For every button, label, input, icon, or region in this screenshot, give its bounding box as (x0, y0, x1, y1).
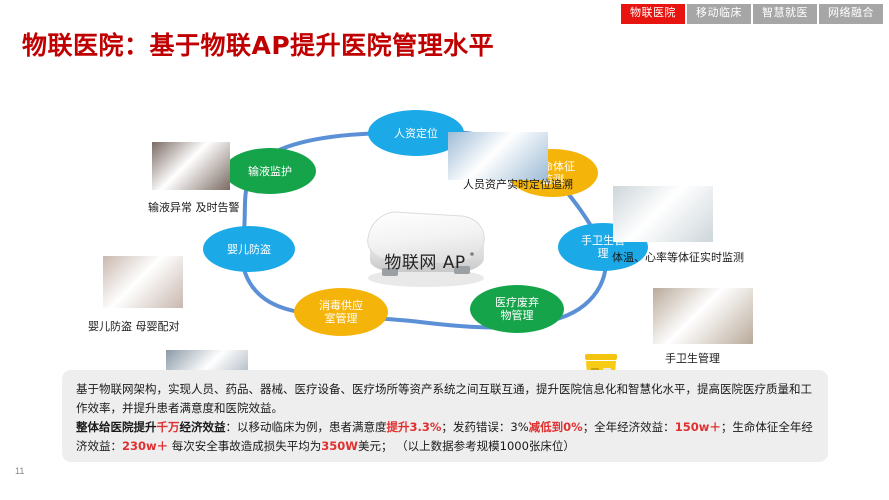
photo-image-infusion-alarm (152, 142, 230, 190)
note-fragment-0: 整体给医院提升 (76, 420, 157, 434)
iot-ap-label: 物联网 AP (340, 248, 510, 273)
photo-staff-asset-rtls (448, 132, 548, 180)
photo-hand-wash (653, 288, 753, 344)
page-title: 物联医院：基于物联AP提升医院管理水平 (22, 26, 494, 62)
photo-infusion-alarm (152, 142, 230, 190)
ring-node-infant-security[interactable]: 婴儿防盗 (203, 226, 295, 272)
note-fragment-6: 减低到0% (529, 420, 583, 434)
slide-root: 物联医院移动临床智慧就医网络融合 物联医院：基于物联AP提升医院管理水平 (0, 0, 889, 500)
photo-caption-hand-wash: 手卫生管理 (665, 350, 720, 366)
nav-tab-1[interactable]: 移动临床 (687, 4, 751, 24)
top-nav-tabs: 物联医院移动临床智慧就医网络融合 (621, 4, 883, 24)
photo-infant-matching (103, 256, 183, 308)
note-fragment-13: 美元； （以上数据参考规模1000张床位） (358, 439, 575, 453)
nav-tab-2[interactable]: 智慧就医 (753, 4, 817, 24)
nav-tab-3[interactable]: 网络融合 (819, 4, 883, 24)
photo-image-infant-matching (103, 256, 183, 308)
photo-caption-infusion-alarm: 输液异常 及时告警 (148, 199, 240, 215)
note-fragment-12: 350W (321, 439, 358, 453)
note-fragment-2: 经济效益 (180, 420, 226, 434)
photo-caption-staff-asset-rtls: 人员资产实时定位追溯 (463, 176, 573, 192)
iot-hospital-diagram: 物联网 AP 人资定位生命体征 监测手卫生管 理医疗废弃 物管理消毒供应 室管理… (0, 60, 889, 360)
summary-note-line1: 基于物联网架构，实现人员、药品、器械、医疗设备、医疗场所等资产系统之间互联互通，… (76, 380, 814, 418)
nav-tab-0[interactable]: 物联医院 (621, 4, 685, 24)
ring-node-medical-waste[interactable]: 医疗废弃 物管理 (470, 285, 564, 333)
photo-caption-infant-matching: 婴儿防盗 母婴配对 (88, 318, 180, 334)
note-fragment-1: 千万 (157, 420, 180, 434)
note-fragment-8: 150w＋ (675, 420, 721, 434)
summary-note: 基于物联网架构，实现人员、药品、器械、医疗设备、医疗场所等资产系统之间互联互通，… (62, 370, 828, 462)
note-fragment-4: 提升3.3% (387, 420, 442, 434)
note-fragment-11: 每次安全事故造成损失平均为 (168, 439, 321, 453)
photo-vital-monitor (613, 186, 713, 242)
photo-image-hand-wash (653, 288, 753, 344)
page-number: 11 (15, 466, 24, 476)
summary-note-line2: 整体给医院提升千万经济效益：以移动临床为例，患者满意度提升3.3%；发药错误：3… (76, 418, 814, 456)
note-fragment-7: ；全年经济效益： (583, 420, 675, 434)
photo-caption-vital-monitor: 体温、心率等体征实时监测 (612, 249, 744, 265)
note-fragment-3: ：以移动临床为例，患者满意度 (226, 420, 387, 434)
photo-image-staff-asset-rtls (448, 132, 548, 180)
note-fragment-5: ；发药错误：3% (441, 420, 528, 434)
note-fragment-10: 230w＋ (122, 439, 168, 453)
photo-image-vital-monitor (613, 186, 713, 242)
ring-node-infusion-care[interactable]: 输液监护 (224, 148, 316, 194)
ring-node-csr-management[interactable]: 消毒供应 室管理 (294, 288, 388, 336)
